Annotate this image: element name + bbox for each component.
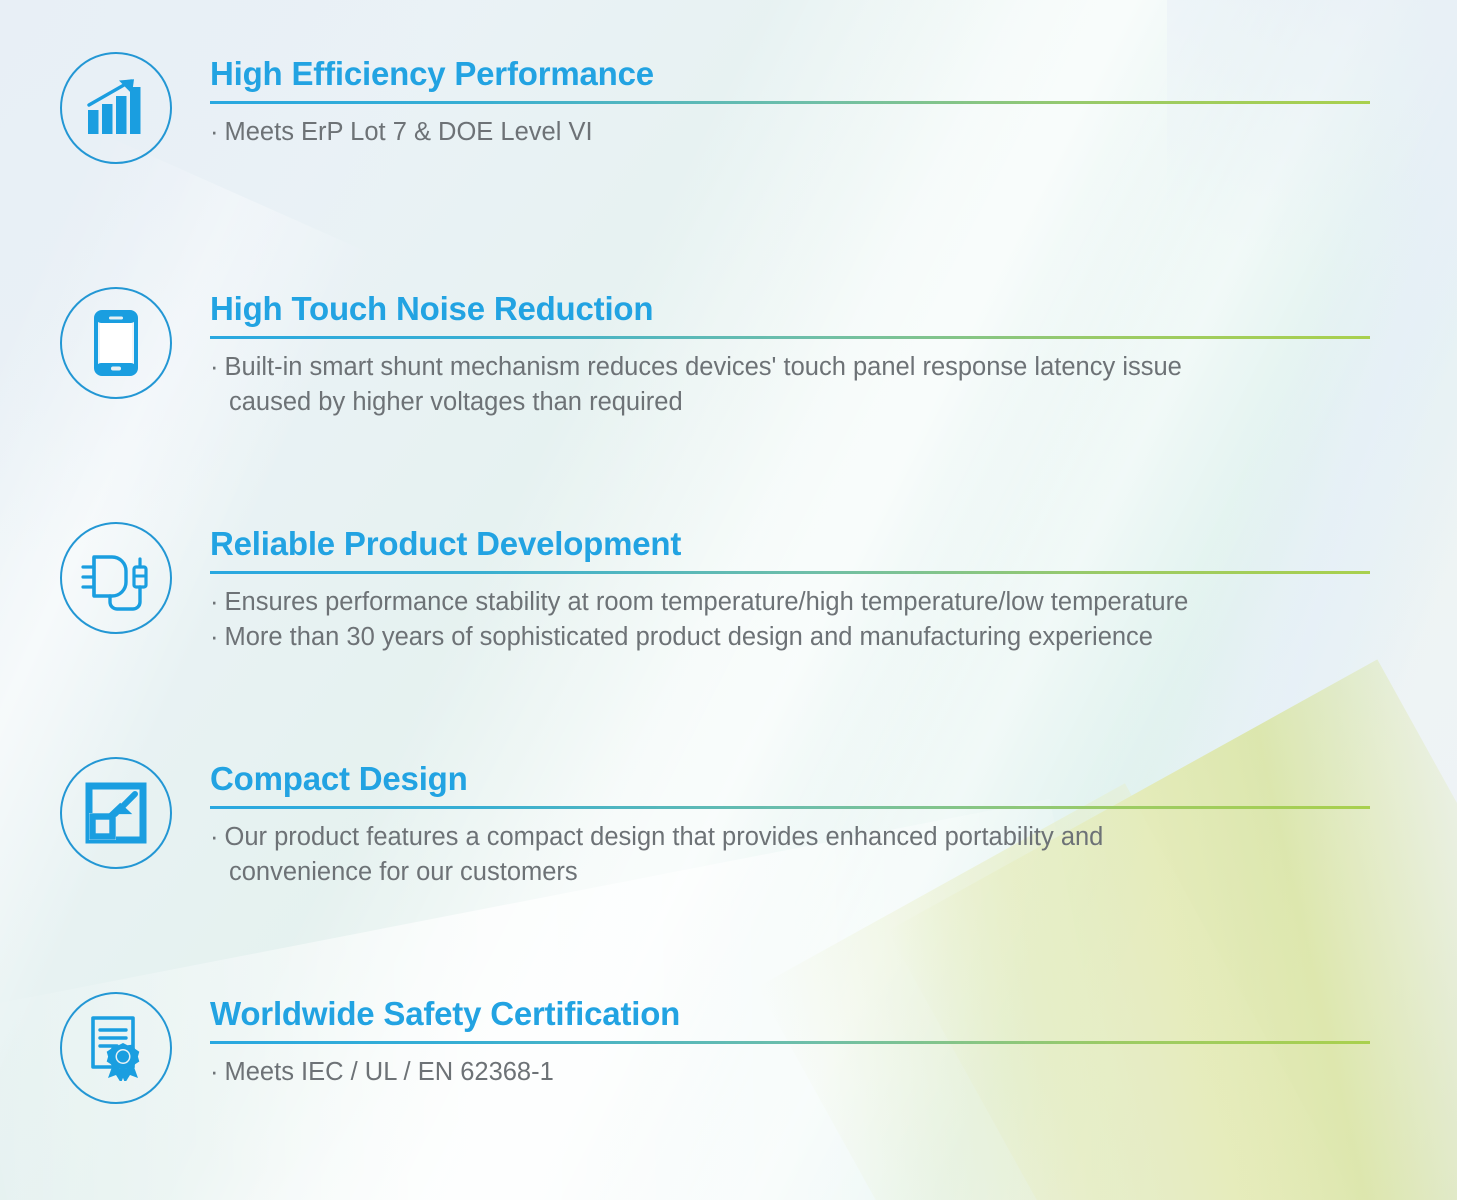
bullet-text: caused by higher voltages than required (229, 388, 683, 416)
feature-title: Compact Design (210, 761, 1370, 797)
feature-bullets: ·Our product features a compact design t… (210, 820, 1370, 890)
feature-divider (210, 101, 1370, 104)
feature-title: High Efficiency Performance (210, 56, 1370, 92)
smartphone-icon (94, 310, 138, 376)
bullet-marker: · (210, 588, 225, 616)
bullet-text: More than 30 years of sophisticated prod… (225, 623, 1153, 651)
compact-resize-icon (85, 782, 147, 844)
feature-bullet-continuation: convenience for our customers (210, 855, 1370, 890)
icon-circle-frame (60, 992, 172, 1104)
feature-text-column: Compact Design ·Our product features a c… (210, 755, 1370, 889)
feature-bullet: ·Meets ErP Lot 7 & DOE Level VI (210, 115, 1370, 150)
feature-item-compact-design: Compact Design ·Our product features a c… (58, 755, 1370, 889)
bullet-marker: · (210, 353, 225, 381)
feature-icon-wrapper (58, 520, 174, 636)
feature-divider (210, 336, 1370, 339)
feature-bullets: ·Ensures performance stability at room t… (210, 585, 1370, 655)
feature-icon-wrapper (58, 285, 174, 401)
bullet-marker: · (210, 623, 225, 651)
bullet-text: Our product features a compact design th… (225, 823, 1104, 851)
feature-text-column: Reliable Product Development ·Ensures pe… (210, 520, 1370, 654)
feature-divider (210, 806, 1370, 809)
feature-bullet: ·Our product features a compact design t… (210, 820, 1370, 855)
feature-icon-wrapper (58, 50, 174, 166)
feature-item-high-efficiency-performance: High Efficiency Performance ·Meets ErP L… (58, 50, 1370, 166)
bar-chart-growth-icon (85, 78, 147, 138)
feature-icon-wrapper (58, 755, 174, 871)
bullet-text: convenience for our customers (229, 858, 578, 886)
feature-item-reliable-product-development: Reliable Product Development ·Ensures pe… (58, 520, 1370, 654)
icon-circle-frame (60, 287, 172, 399)
feature-bullet: ·Ensures performance stability at room t… (210, 585, 1370, 620)
bullet-text: Ensures performance stability at room te… (225, 588, 1189, 616)
feature-bullets: ·Meets IEC / UL / EN 62368-1 (210, 1055, 1370, 1090)
feature-bullet: ·Meets IEC / UL / EN 62368-1 (210, 1055, 1370, 1090)
certificate-seal-icon (85, 1015, 147, 1081)
feature-item-worldwide-safety-certification: Worldwide Safety Certification ·Meets IE… (58, 990, 1370, 1106)
feature-list: High Efficiency Performance ·Meets ErP L… (0, 0, 1457, 1200)
feature-bullet: ·Built-in smart shunt mechanism reduces … (210, 350, 1370, 385)
feature-bullet-continuation: caused by higher voltages than required (210, 385, 1370, 420)
feature-text-column: Worldwide Safety Certification ·Meets IE… (210, 990, 1370, 1090)
feature-text-column: High Efficiency Performance ·Meets ErP L… (210, 50, 1370, 150)
feature-text-column: High Touch Noise Reduction ·Built-in sma… (210, 285, 1370, 419)
bullet-marker: · (210, 118, 225, 146)
feature-title: Worldwide Safety Certification (210, 996, 1370, 1032)
bullet-marker: · (210, 823, 225, 851)
feature-icon-wrapper (58, 990, 174, 1106)
feature-title: High Touch Noise Reduction (210, 291, 1370, 327)
bullet-text: Built-in smart shunt mechanism reduces d… (225, 353, 1182, 381)
bullet-text: Meets ErP Lot 7 & DOE Level VI (225, 118, 593, 146)
bullet-text: Meets IEC / UL / EN 62368-1 (225, 1058, 554, 1086)
power-adapter-icon (78, 545, 154, 611)
feature-divider (210, 571, 1370, 574)
feature-bullets: ·Meets ErP Lot 7 & DOE Level VI (210, 115, 1370, 150)
icon-circle-frame (60, 52, 172, 164)
icon-circle-frame (60, 757, 172, 869)
feature-title: Reliable Product Development (210, 526, 1370, 562)
feature-item-high-touch-noise-reduction: High Touch Noise Reduction ·Built-in sma… (58, 285, 1370, 419)
feature-divider (210, 1041, 1370, 1044)
feature-bullets: ·Built-in smart shunt mechanism reduces … (210, 350, 1370, 420)
icon-circle-frame (60, 522, 172, 634)
bullet-marker: · (210, 1058, 225, 1086)
feature-bullet: ·More than 30 years of sophisticated pro… (210, 620, 1370, 655)
